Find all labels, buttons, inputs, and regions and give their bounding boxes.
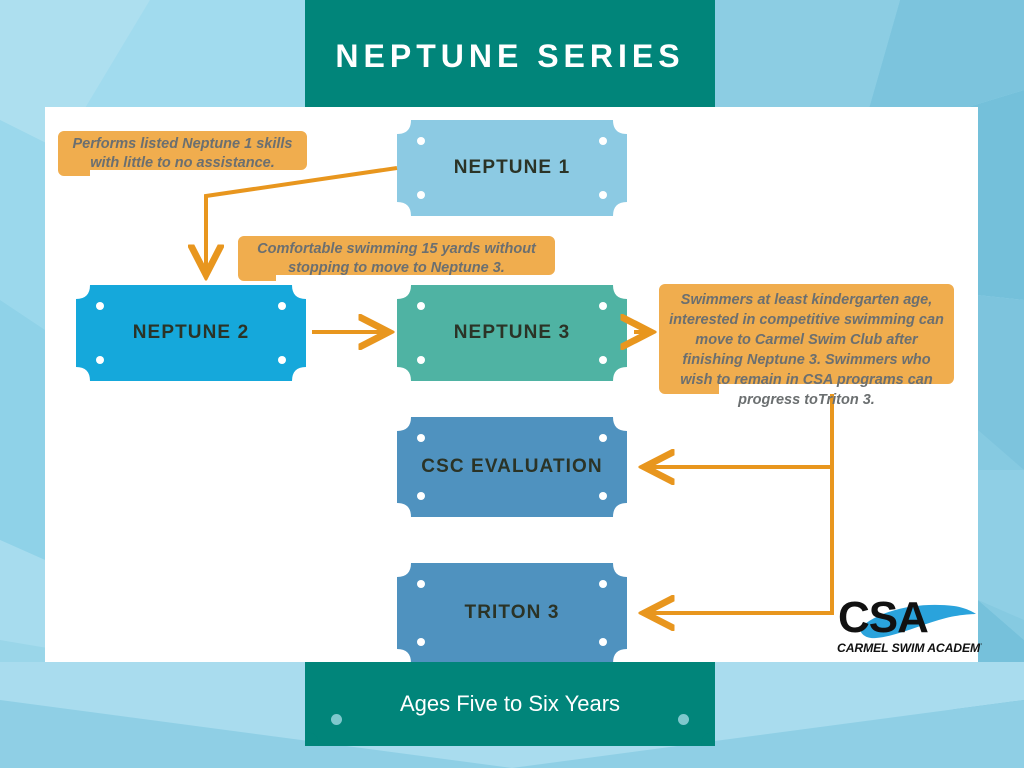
plaque-screw-icon (417, 356, 425, 364)
node-csc-evaluation[interactable]: CSC EVALUATION (397, 417, 627, 517)
plaque-screw-icon (599, 434, 607, 442)
callout-swim-club-pathway: Swimmers at least kindergarten age, inte… (659, 284, 954, 394)
node-label: NEPTUNE 1 (454, 157, 571, 179)
plaque-screw-icon (599, 638, 607, 646)
plaque-screw-icon (278, 302, 286, 310)
header-banner: NEPTUNE SERIES (305, 0, 715, 107)
footer-label: Ages Five to Six Years (305, 691, 715, 717)
plaque-screw-icon (417, 638, 425, 646)
callout-text: Performs listed Neptune 1 skills with li… (58, 131, 307, 173)
csa-logo: CSA CARMEL SWIM ACADEMY (836, 584, 982, 660)
node-label: NEPTUNE 2 (133, 322, 250, 344)
node-neptune-1[interactable]: NEPTUNE 1 (397, 120, 627, 216)
plaque-screw-icon (96, 356, 104, 364)
node-neptune-3[interactable]: NEPTUNE 3 (397, 285, 627, 381)
plaque-screw-icon (599, 137, 607, 145)
logo-wordmark: CARMEL SWIM ACADEMY (837, 641, 982, 655)
node-label: CSC EVALUATION (421, 456, 602, 478)
plaque-screw-icon (417, 191, 425, 199)
node-neptune-2[interactable]: NEPTUNE 2 (76, 285, 306, 381)
node-label: TRITON 3 (464, 602, 559, 624)
callout-neptune-3-entry: Comfortable swimming 15 yards without st… (238, 236, 555, 281)
node-label: NEPTUNE 3 (454, 322, 571, 344)
callout-text: Swimmers at least kindergarten age, inte… (659, 284, 954, 410)
plaque-screw-icon (678, 714, 689, 725)
callout-text: Comfortable swimming 15 yards without st… (238, 236, 555, 278)
plaque-screw-icon (278, 356, 286, 364)
callout-neptune-1-skills: Performs listed Neptune 1 skills with li… (58, 131, 307, 176)
plaque-screw-icon (599, 492, 607, 500)
plaque-screw-icon (417, 580, 425, 588)
plaque-screw-icon (599, 356, 607, 364)
plaque-screw-icon (599, 302, 607, 310)
plaque-screw-icon (96, 302, 104, 310)
logo-monogram: CSA (838, 593, 928, 642)
node-triton-3[interactable]: TRITON 3 (397, 563, 627, 663)
plaque-screw-icon (331, 714, 342, 725)
plaque-screw-icon (417, 434, 425, 442)
plaque-screw-icon (599, 191, 607, 199)
flowchart-poster: NEPTUNE SERIES NEPTUNE 1 (0, 0, 1024, 768)
plaque-screw-icon (417, 492, 425, 500)
footer-banner: Ages Five to Six Years (305, 662, 715, 746)
plaque-screw-icon (417, 302, 425, 310)
plaque-screw-icon (417, 137, 425, 145)
plaque-screw-icon (599, 580, 607, 588)
page-title: NEPTUNE SERIES (305, 38, 715, 75)
